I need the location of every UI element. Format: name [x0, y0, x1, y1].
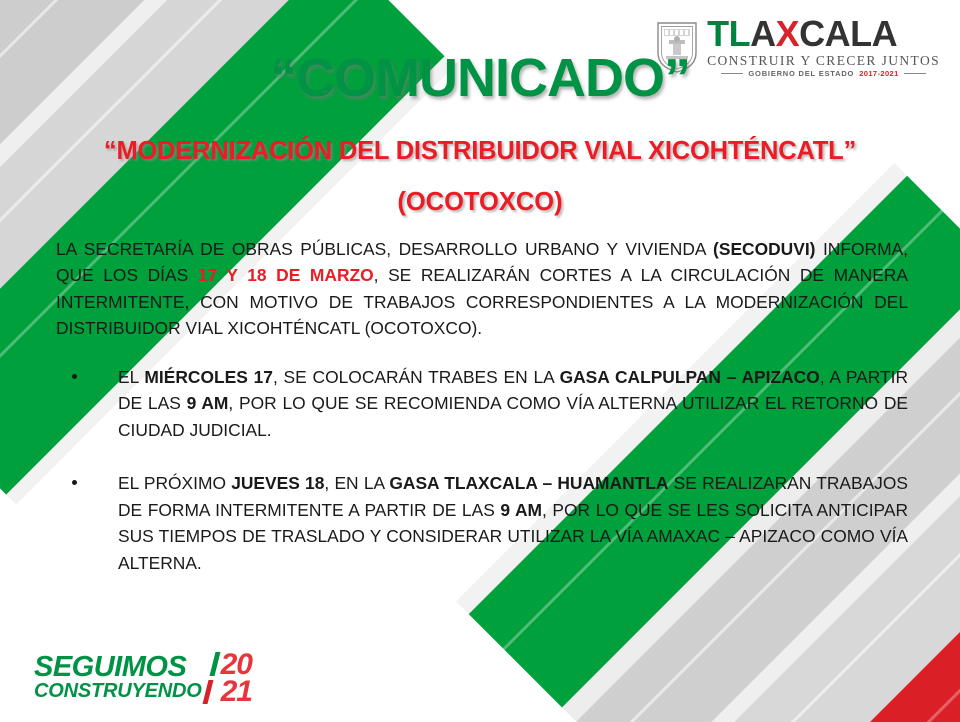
subtitle-project-name: “MODERNIZACIÓN DEL DISTRIBUIDOR VIAL XIC… [0, 137, 960, 166]
list-item: EL MIÉRCOLES 17, SE COLOCARÁN TRABES EN … [56, 364, 908, 443]
bullet-2-p2: , EN LA [324, 473, 389, 493]
comunicado-slide: TLAXCALA CONSTRUIR Y CRECER JUNTOS GOBIE… [0, 0, 960, 722]
seguimos-year: 20 21 [221, 651, 252, 705]
seguimos-year-bottom: 21 [221, 678, 252, 705]
seguimos-line-2: CONSTRUYENDO [34, 682, 202, 701]
bullet-dot-icon [72, 480, 77, 485]
bullet-2-p1: EL PRÓXIMO [118, 473, 231, 493]
bullet-2-time: 9 AM [500, 500, 542, 520]
intro-dates: 17 Y 18 DE MARZO [198, 265, 374, 285]
bullet-1-p4: , POR LO QUE SE RECOMIENDA COMO VÍA ALTE… [118, 393, 908, 439]
intro-secoduvi: (SECODUVI) [713, 239, 815, 259]
bullet-1-p1: EL [118, 367, 144, 387]
subtitle-location: (OCOTOXCO) [0, 188, 960, 217]
bullet-2-route: GASA TLAXCALA – HUAMANTLA [389, 473, 668, 493]
page-title: “COMUNICADO” [0, 47, 960, 109]
seguimos-construyendo-logo: SEGUIMOS CONSTRUYENDO 20 21 [26, 648, 260, 708]
bullet-dot-icon [72, 374, 77, 379]
bullet-1-time: 9 AM [187, 393, 229, 413]
bullet-1-p2: , SE COLOCARÁN TRABES EN LA [273, 367, 560, 387]
seguimos-wordmark: SEGUIMOS CONSTRUYENDO [34, 654, 202, 701]
seguimos-year-top: 20 [221, 651, 252, 678]
seguimos-line-1: SEGUIMOS [34, 654, 202, 682]
bullet-1-day: MIÉRCOLES 17 [144, 367, 273, 387]
bullet-1-route: GASA CALPULPAN – APIZACO [560, 367, 820, 387]
bullet-2-day: JUEVES 18 [231, 473, 324, 493]
seguimos-slash-divider [202, 652, 220, 704]
bullet-list: EL MIÉRCOLES 17, SE COLOCARÁN TRABES EN … [56, 364, 908, 576]
intro-seg-1: LA SECRETARÍA DE OBRAS PÚBLICAS, DESARRO… [56, 239, 713, 259]
list-item: EL PRÓXIMO JUEVES 18, EN LA GASA TLAXCAL… [56, 470, 908, 576]
intro-paragraph: LA SECRETARÍA DE OBRAS PÚBLICAS, DESARRO… [56, 236, 908, 342]
announcement-body: LA SECRETARÍA DE OBRAS PÚBLICAS, DESARRO… [56, 236, 908, 576]
